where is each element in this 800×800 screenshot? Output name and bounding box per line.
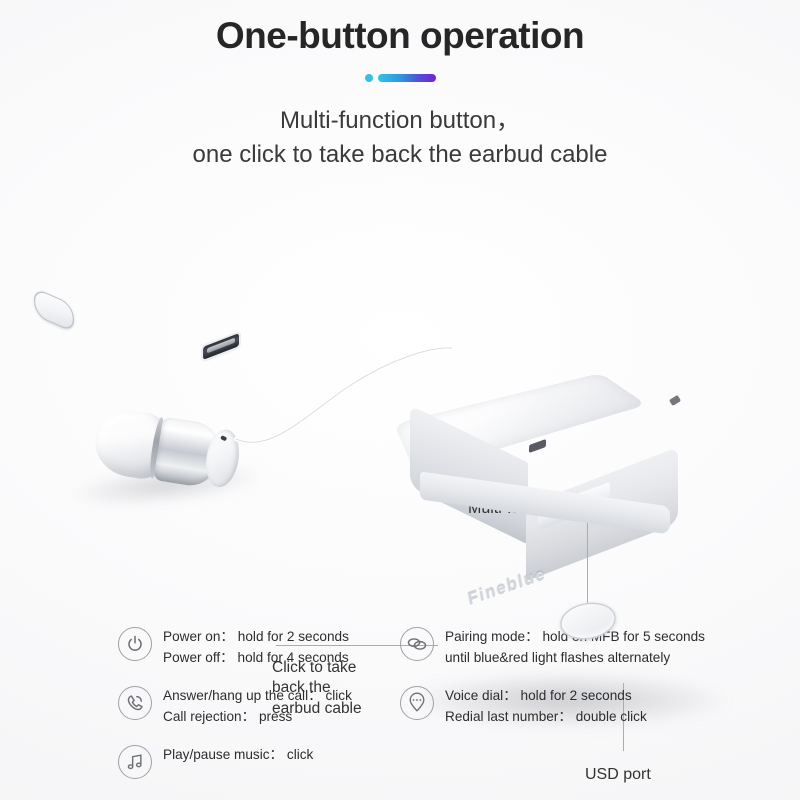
feature-power-line-2: Power off： hold for 4 seconds xyxy=(163,650,349,665)
page-title: One-button operation xyxy=(0,14,800,58)
feature-text-voice-dial: Voice dial： hold for 2 seconds Redial la… xyxy=(445,685,647,728)
feature-call-line-1: Answer/hang up the call： click xyxy=(163,688,352,703)
subtitle-line-2: one click to take back the earbud cable xyxy=(0,138,800,172)
accent-divider xyxy=(0,74,800,82)
phone-icon xyxy=(118,686,152,720)
feature-text-music: Play/pause music： click xyxy=(163,744,313,766)
voice-dial-icon xyxy=(400,686,434,720)
header: One-button operation Multi-function butt… xyxy=(0,0,800,173)
device-corner-shadow-front xyxy=(529,439,546,453)
power-icon xyxy=(118,627,152,661)
feature-music-line-1: Play/pause music： click xyxy=(163,747,313,762)
feature-voice-dial-line-1: Voice dial： hold for 2 seconds xyxy=(445,688,632,703)
feature-power-line-1: Power on： hold for 2 seconds xyxy=(163,629,349,644)
product-scene: Fineblue Multi-function button Click to … xyxy=(0,215,800,605)
accent-dot xyxy=(365,74,373,82)
music-note-icon xyxy=(118,745,152,779)
feature-call-line-2: Call rejection： press xyxy=(163,709,292,724)
feature-list: Power on： hold for 2 seconds Power off： … xyxy=(118,626,738,779)
subtitle: Multi-function button， one click to take… xyxy=(0,104,800,172)
feature-item-voice-dial: Voice dial： hold for 2 seconds Redial la… xyxy=(400,685,738,728)
feature-item-call: Answer/hang up the call： click Call reje… xyxy=(118,685,400,728)
feature-pairing-line-2: until blue&red light flashes alternately xyxy=(445,650,670,665)
subtitle-line-1: Multi-function button， xyxy=(0,104,800,138)
feature-item-music: Play/pause music： click xyxy=(118,744,400,779)
device-corner-shadow-right xyxy=(669,395,681,406)
pairing-rings-icon xyxy=(400,627,434,661)
accent-bar xyxy=(378,74,436,82)
bluetooth-clip-device xyxy=(398,343,713,543)
feature-text-call: Answer/hang up the call： click Call reje… xyxy=(163,685,352,728)
feature-item-power: Power on： hold for 2 seconds Power off： … xyxy=(118,626,400,669)
feature-voice-dial-line-2: Redial last number： double click xyxy=(445,709,647,724)
feature-text-power: Power on： hold for 2 seconds Power off： … xyxy=(163,626,349,669)
